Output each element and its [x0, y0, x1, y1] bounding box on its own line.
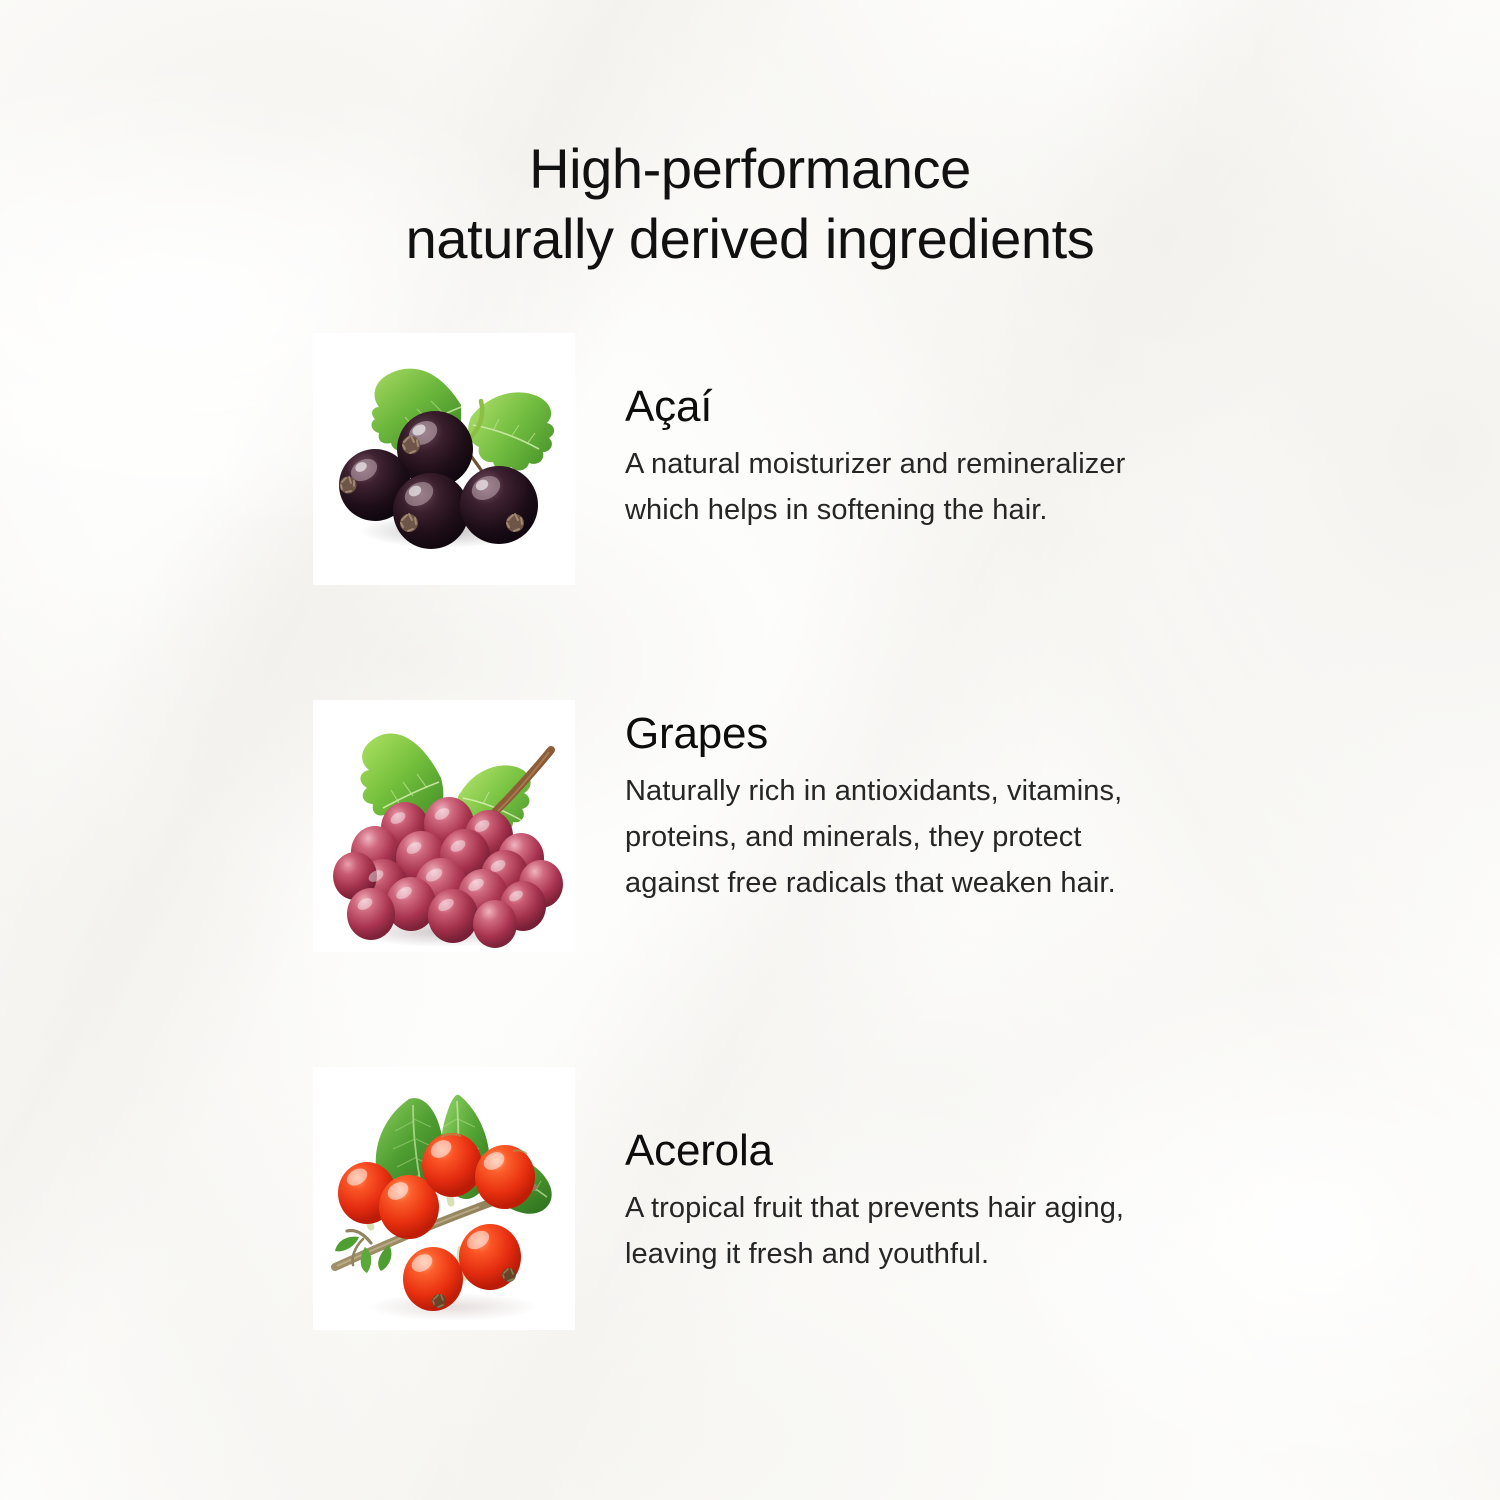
acerola-image-tile [313, 1067, 575, 1330]
grapes-copy: Grapes Naturally rich in antioxidants, v… [575, 700, 1313, 906]
acai-image-tile [313, 333, 575, 585]
acai-berries-photo [313, 333, 575, 585]
ingredients-infographic: High-performance naturally derived ingre… [0, 0, 1500, 1500]
ingredient-title: Acerola [625, 1125, 1313, 1177]
ingredient-row-grapes: Grapes Naturally rich in antioxidants, v… [313, 700, 1313, 952]
acerola-cherries-photo [313, 1067, 575, 1330]
ingredient-row-acai: Açaí A natural moisturizer and remineral… [313, 333, 1313, 585]
ingredient-title: Grapes [625, 708, 1313, 760]
grapes-image-tile [313, 700, 575, 952]
red-grapes-photo [313, 700, 575, 952]
page-title: High-performance naturally derived ingre… [0, 134, 1500, 274]
acerola-copy: Acerola A tropical fruit that prevents h… [575, 1067, 1313, 1277]
ingredient-description: Naturally rich in antioxidants, vitamins… [625, 768, 1275, 906]
ingredient-description: A tropical fruit that prevents hair agin… [625, 1185, 1275, 1277]
ingredient-description: A natural moisturizer and remineralizer … [625, 441, 1275, 533]
ingredient-title: Açaí [625, 381, 1313, 433]
ingredient-row-acerola: Acerola A tropical fruit that prevents h… [313, 1067, 1313, 1330]
acai-copy: Açaí A natural moisturizer and remineral… [575, 333, 1313, 533]
